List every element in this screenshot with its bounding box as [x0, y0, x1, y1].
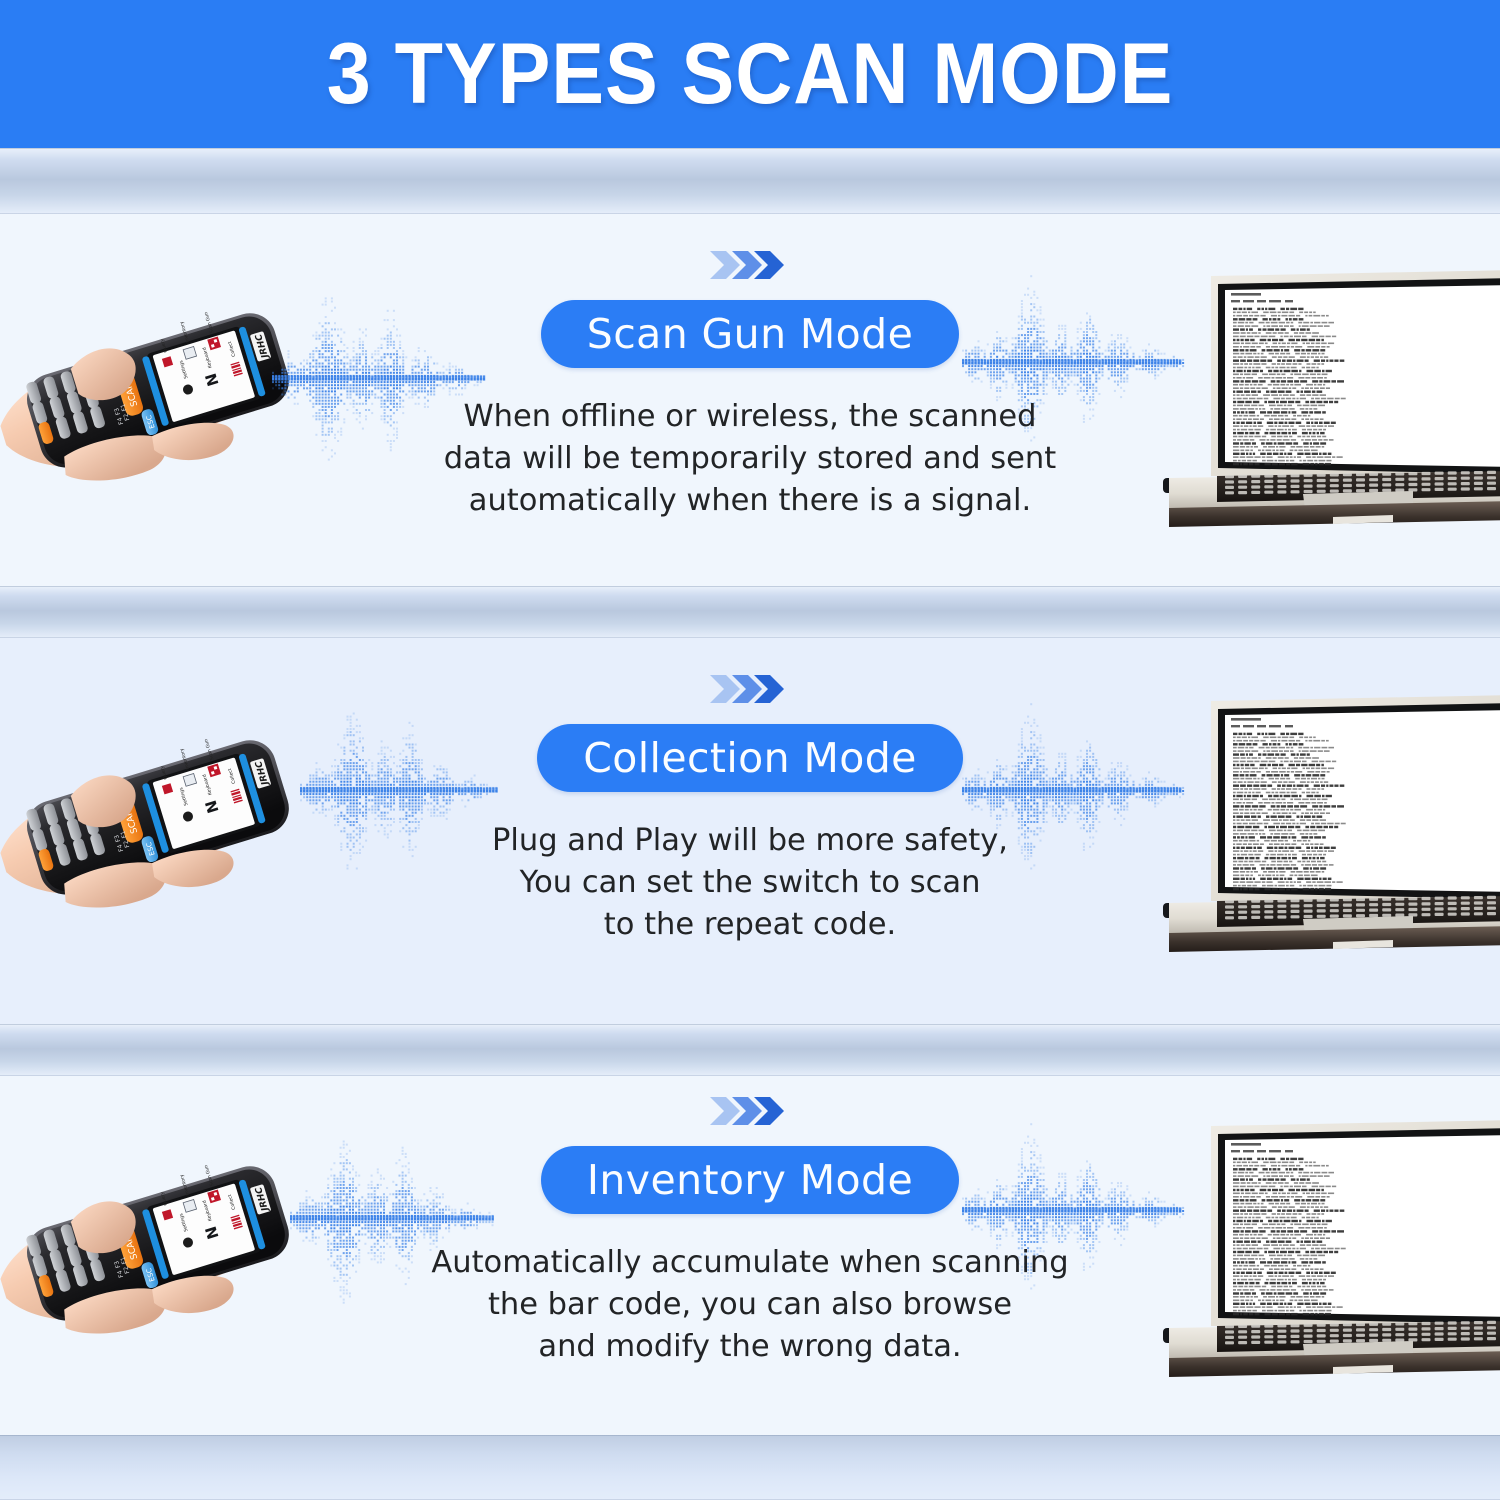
divider-band-top [0, 148, 1500, 214]
laptop-screen [1225, 710, 1500, 892]
chevron-triple-right-icon [708, 668, 792, 710]
mode-button-label: Scan Gun Mode [587, 310, 913, 358]
divider-band-bottom [0, 1435, 1500, 1500]
mode-button-label: Collection Mode [583, 734, 917, 782]
section-content-scan-gun: Scan Gun Mode When offline or wireless, … [380, 244, 1120, 522]
divider-band-1 [0, 586, 1500, 638]
laptop-screen [1225, 1135, 1500, 1317]
laptop-3 [1155, 1118, 1500, 1384]
laptop-2 [1155, 693, 1500, 959]
handheld-scanner-3: Query Inventory Scan Gun [0, 1138, 337, 1368]
divider-band-2 [0, 1024, 1500, 1076]
mode-description: Plug and Play will be more safety, You c… [492, 820, 1008, 946]
infographic-page: 3 TYPES SCAN MODE [0, 0, 1500, 1500]
chevron-triple-right-icon [708, 1090, 792, 1132]
laptop-screen [1225, 285, 1500, 467]
handheld-scanner-2: Query Inventory Scan Gun [0, 712, 337, 942]
page-title: 3 TYPES SCAN MODE [327, 25, 1174, 124]
header-banner: 3 TYPES SCAN MODE [0, 0, 1500, 148]
mode-button-scan-gun[interactable]: Scan Gun Mode [541, 300, 959, 368]
mode-button-inventory[interactable]: Inventory Mode [541, 1146, 959, 1214]
section-content-inventory: Inventory Mode Automatically accumulate … [380, 1090, 1120, 1368]
mode-description: When offline or wireless, the scanned da… [444, 396, 1056, 522]
laptop-1 [1155, 268, 1500, 534]
mode-description: Automatically accumulate when scanning t… [431, 1242, 1068, 1368]
section-content-collection: Collection Mode Plug and Play will be mo… [380, 668, 1120, 946]
mode-button-collection[interactable]: Collection Mode [537, 724, 963, 792]
chevron-triple-right-icon [708, 244, 792, 286]
mode-button-label: Inventory Mode [587, 1156, 913, 1204]
